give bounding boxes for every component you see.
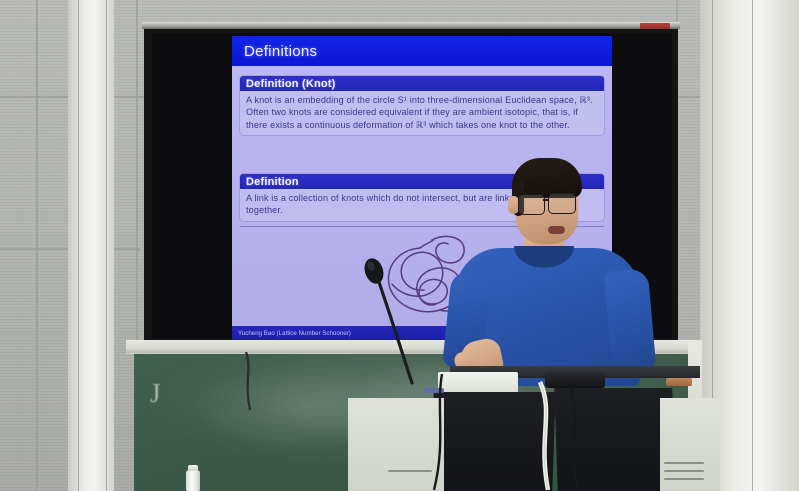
pillar-edge xyxy=(106,0,107,491)
wall-pillar-left xyxy=(68,0,114,491)
wall-grout-line xyxy=(36,0,38,491)
slide-title-text: Definitions xyxy=(232,43,317,60)
theorem-header-text: Definition xyxy=(240,176,299,188)
wooden-pointer xyxy=(666,378,692,386)
cabinet-vent-slot xyxy=(664,470,704,472)
theorem-body-text: A knot is an embedding of the circle S¹ … xyxy=(246,94,598,131)
water-bottle-cap xyxy=(188,465,198,471)
eyeglasses-lens-left xyxy=(518,194,545,215)
cabinet-vent-slot xyxy=(664,478,704,480)
theorem-block-knot: Definition (Knot) A knot is an embedding… xyxy=(240,76,604,135)
wall-grout-line xyxy=(136,0,138,340)
cabinet-vent-slot xyxy=(664,462,704,464)
eyeglasses-bridge xyxy=(543,199,549,201)
slide-footer-author: Yucheng Bao (Lattice Number Schooner) xyxy=(238,330,351,337)
theorem-block-body: A knot is an embedding of the circle S¹ … xyxy=(240,91,604,135)
cable-left xyxy=(238,352,298,412)
display-indicator-accent xyxy=(640,23,670,29)
microphone xyxy=(350,255,420,385)
chalk-mark: J xyxy=(150,378,161,409)
presenter-sleeve-right xyxy=(604,268,657,371)
lecture-hall-photo: Definitions Definition (Knot) A knot is … xyxy=(0,0,799,491)
pillar-edge xyxy=(78,0,79,491)
display-bezel-top xyxy=(142,22,680,29)
microphone-capsule xyxy=(361,256,386,286)
pillar-edge xyxy=(752,0,753,491)
theorem-header-text: Definition (Knot) xyxy=(240,78,336,90)
water-bottle xyxy=(186,470,200,491)
slide-title-bar: Definitions xyxy=(232,36,612,66)
presenter-mouth xyxy=(548,226,565,234)
cable-bundle xyxy=(420,368,660,491)
eyeglasses-lens-right xyxy=(548,193,576,214)
theorem-block-header: Definition (Knot) xyxy=(240,76,604,91)
